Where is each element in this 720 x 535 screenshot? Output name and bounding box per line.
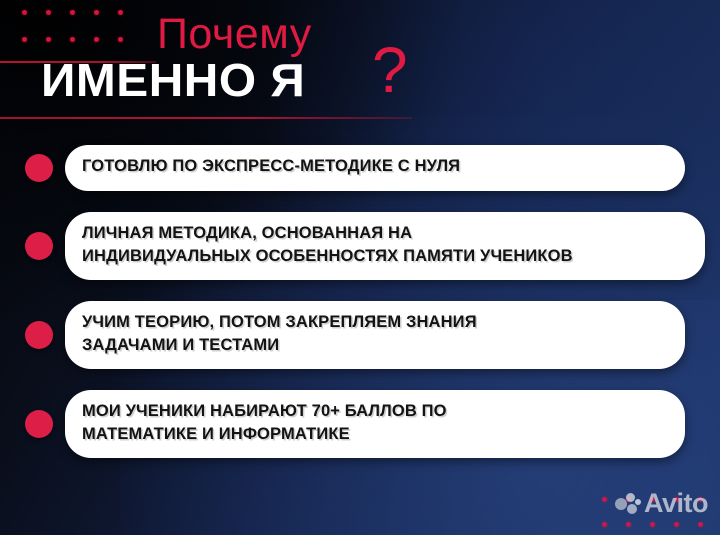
benefit-pill: МОИ УЧЕНИКИ НАБИРАЮТ 70+ БАЛЛОВ ПО МАТЕМ… bbox=[65, 390, 685, 458]
bullet-dot-icon bbox=[25, 321, 53, 349]
avito-dot bbox=[635, 499, 641, 505]
avito-dot bbox=[626, 493, 635, 502]
list-item: УЧИМ ТЕОРИЮ, ПОТОМ ЗАКРЕПЛЯЕМ ЗНАНИЯ ЗАД… bbox=[0, 301, 720, 369]
avito-dot bbox=[615, 498, 627, 510]
grid-dot bbox=[650, 522, 655, 527]
list-item: ЛИЧНАЯ МЕТОДИКА, ОСНОВАННАЯ НА ИНДИВИДУА… bbox=[0, 212, 720, 280]
benefit-pill: ЛИЧНАЯ МЕТОДИКА, ОСНОВАННАЯ НА ИНДИВИДУА… bbox=[65, 212, 705, 280]
accent-rule-bottom bbox=[0, 117, 412, 119]
list-item: ГОТОВЛЮ ПО ЭКСПРЕСС-МЕТОДИКЕ С НУЛЯ bbox=[0, 145, 720, 191]
benefit-text: ГОТОВЛЮ ПО ЭКСПРЕСС-МЕТОДИКЕ С НУЛЯ bbox=[82, 155, 460, 178]
list-item: МОИ УЧЕНИКИ НАБИРАЮТ 70+ БАЛЛОВ ПО МАТЕМ… bbox=[0, 390, 720, 458]
bullet-dot-icon bbox=[25, 410, 53, 438]
benefit-text: УЧИМ ТЕОРИЮ, ПОТОМ ЗАКРЕПЛЯЕМ ЗНАНИЯ ЗАД… bbox=[82, 311, 477, 358]
avito-wordmark: Avito bbox=[644, 490, 708, 517]
title-line-imenno-ya: ИМЕННО Я bbox=[41, 57, 305, 103]
avito-watermark: Avito bbox=[615, 490, 708, 517]
title-question-mark: ? bbox=[372, 38, 408, 102]
benefit-text: МОИ УЧЕНИКИ НАБИРАЮТ 70+ БАЛЛОВ ПО МАТЕМ… bbox=[82, 400, 447, 447]
grid-dot bbox=[626, 522, 631, 527]
avito-dots-icon bbox=[615, 492, 641, 516]
avito-dot bbox=[627, 504, 637, 514]
grid-dot bbox=[698, 522, 703, 527]
header-block: Почему ИМЕННО Я ? bbox=[0, 0, 720, 130]
poster-root: Почему ИМЕННО Я ? ГОТОВЛЮ ПО ЭКСПРЕСС-МЕ… bbox=[0, 0, 720, 535]
bullet-dot-icon bbox=[25, 154, 53, 182]
grid-dot bbox=[602, 522, 607, 527]
bullet-dot-icon bbox=[25, 232, 53, 260]
title-line-pochemu: Почему bbox=[157, 13, 312, 56]
benefit-text: ЛИЧНАЯ МЕТОДИКА, ОСНОВАННАЯ НА ИНДИВИДУА… bbox=[82, 222, 573, 269]
grid-dot bbox=[674, 522, 679, 527]
benefit-pill: ГОТОВЛЮ ПО ЭКСПРЕСС-МЕТОДИКЕ С НУЛЯ bbox=[65, 145, 685, 191]
benefit-pill: УЧИМ ТЕОРИЮ, ПОТОМ ЗАКРЕПЛЯЕМ ЗНАНИЯ ЗАД… bbox=[65, 301, 685, 369]
grid-dot bbox=[602, 497, 607, 502]
benefits-list: ГОТОВЛЮ ПО ЭКСПРЕСС-МЕТОДИКЕ С НУЛЯ ЛИЧН… bbox=[0, 131, 720, 474]
